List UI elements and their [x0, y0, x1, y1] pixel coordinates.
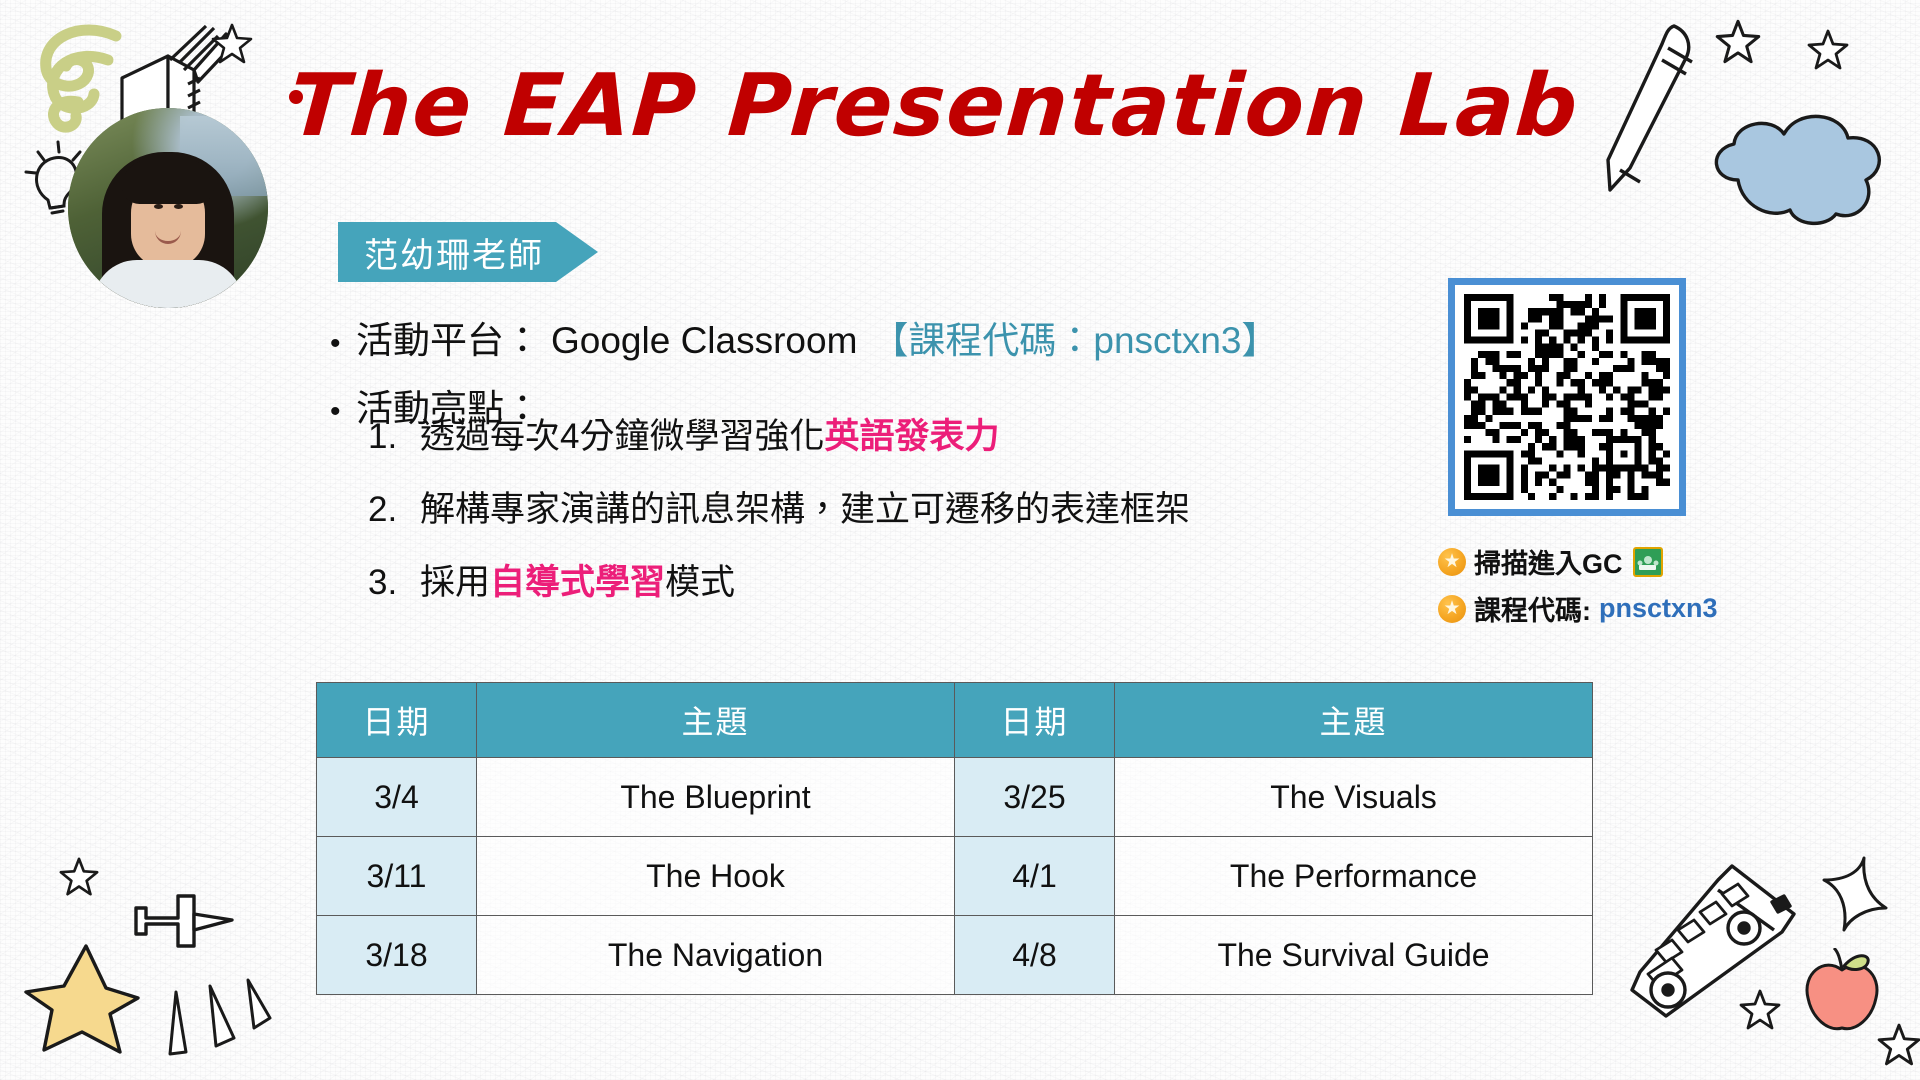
highlight-item-3: 3. 採用 自導式學習 模式: [368, 554, 1398, 605]
bullet-label-platform: 活動平台：: [356, 310, 541, 364]
avatar: [68, 108, 268, 308]
sparkle-doodle: [1822, 856, 1888, 932]
instructor-name-banner: 范幼珊老師: [338, 222, 598, 282]
table-header-row: 日期 主題 日期 主題: [317, 683, 1593, 758]
column-header-topic-2: 主題: [1115, 683, 1593, 758]
star-outline-doodle: [1806, 28, 1850, 72]
column-header-date-2: 日期: [955, 683, 1115, 758]
bullet-item-platform: • 活動平台： Google Classroom 【課程代碼：pnsctxn3】: [330, 310, 1390, 364]
star-outline-doodle: [1876, 1022, 1920, 1068]
highlight-text-after: 模式: [665, 554, 735, 605]
qr-code-label: 課程代碼:: [1474, 589, 1591, 628]
table-row: 3/11 The Hook 4/1 The Performance: [317, 837, 1593, 916]
star-outline-doodle: [1714, 18, 1762, 66]
highlight-emphasis: 英語發表力: [824, 408, 999, 459]
table-row: 3/18 The Navigation 4/8 The Survival Gui…: [317, 916, 1593, 995]
cell-topic: The Survival Guide: [1115, 916, 1593, 995]
avatar-eye-left: [154, 204, 163, 209]
cell-date: 4/8: [955, 916, 1115, 995]
qr-code-line: 課程代碼: pnsctxn3: [1438, 589, 1898, 628]
pencil-doodle: [1596, 18, 1706, 208]
avatar-fringe: [122, 160, 214, 204]
instructor-name-label: 范幼珊老師: [364, 228, 544, 277]
cell-date: 3/11: [317, 837, 477, 916]
highlight-item-2: 2. 解構專家演講的訊息架構，建立可遷移的表達框架: [368, 481, 1398, 532]
qr-scan-label: 掃描進入GC: [1474, 542, 1623, 581]
bullet-marker-icon: •: [330, 329, 356, 359]
star-icon: [1438, 595, 1466, 623]
star-outline-doodle: [1738, 988, 1782, 1032]
cloud-doodle: [1690, 106, 1920, 226]
qr-code[interactable]: [1448, 278, 1686, 516]
cell-date: 3/18: [317, 916, 477, 995]
cell-topic: The Navigation: [477, 916, 955, 995]
bullet-marker-icon: •: [330, 397, 356, 427]
cell-topic: The Hook: [477, 837, 955, 916]
highlight-text-before: 解構專家演講的訊息架構，建立可遷移的表達框架: [420, 481, 1190, 532]
highlight-index: 1.: [368, 417, 420, 457]
apple-doodle: [1800, 948, 1884, 1038]
avatar-eye-right: [174, 204, 183, 209]
highlight-emphasis: 自導式學習: [490, 554, 665, 605]
qr-code-value: pnsctxn3: [1599, 593, 1718, 624]
highlight-item-1: 1. 透過每次4分鐘微學習強化 英語發表力: [368, 408, 1398, 459]
highlight-index: 2.: [368, 490, 420, 530]
highlight-index: 3.: [368, 563, 420, 603]
cell-date: 4/1: [955, 837, 1115, 916]
filled-star-doodle: [22, 940, 142, 1058]
page-title: The EAP Presentation Lab: [287, 56, 1583, 156]
qr-code-canvas: [1464, 294, 1670, 500]
table-row: 3/4 The Blueprint 3/25 The Visuals: [317, 758, 1593, 837]
cell-topic: The Blueprint: [477, 758, 955, 837]
highlight-list: 1. 透過每次4分鐘微學習強化 英語發表力 2. 解構專家演講的訊息架構，建立可…: [368, 408, 1398, 627]
pushpin-doodle: [128, 888, 238, 958]
qr-caption-block: 掃描進入GC 課程代碼: pnsctxn3: [1438, 542, 1898, 636]
google-classroom-icon: [1633, 547, 1663, 577]
poster-canvas: The EAP Presentation Lab 范幼珊老師 • 活動平台： G…: [0, 0, 1920, 1080]
cell-date: 3/25: [955, 758, 1115, 837]
column-header-topic-1: 主題: [477, 683, 955, 758]
star-icon: [1438, 548, 1466, 576]
cell-date: 3/4: [317, 758, 477, 837]
highlight-text-before: 透過每次4分鐘微學習強化: [420, 408, 824, 459]
highlight-text-before: 採用: [420, 554, 490, 605]
cell-topic: The Performance: [1115, 837, 1593, 916]
column-header-date-1: 日期: [317, 683, 477, 758]
course-code-inline: 【課程代碼：pnsctxn3】: [871, 310, 1278, 364]
star-outline-doodle: [210, 22, 254, 66]
qr-scan-line: 掃描進入GC: [1438, 542, 1898, 581]
bullet-value-platform: Google Classroom: [551, 320, 857, 362]
star-outline-doodle: [58, 856, 100, 898]
schedule-table: 日期 主題 日期 主題 3/4 The Blueprint 3/25 The V…: [316, 682, 1593, 995]
school-bus-doodle: [1622, 850, 1822, 1030]
sparkle-rays-doodle: [164, 972, 274, 1062]
avatar-shirt: [93, 260, 243, 308]
cell-topic: The Visuals: [1115, 758, 1593, 837]
